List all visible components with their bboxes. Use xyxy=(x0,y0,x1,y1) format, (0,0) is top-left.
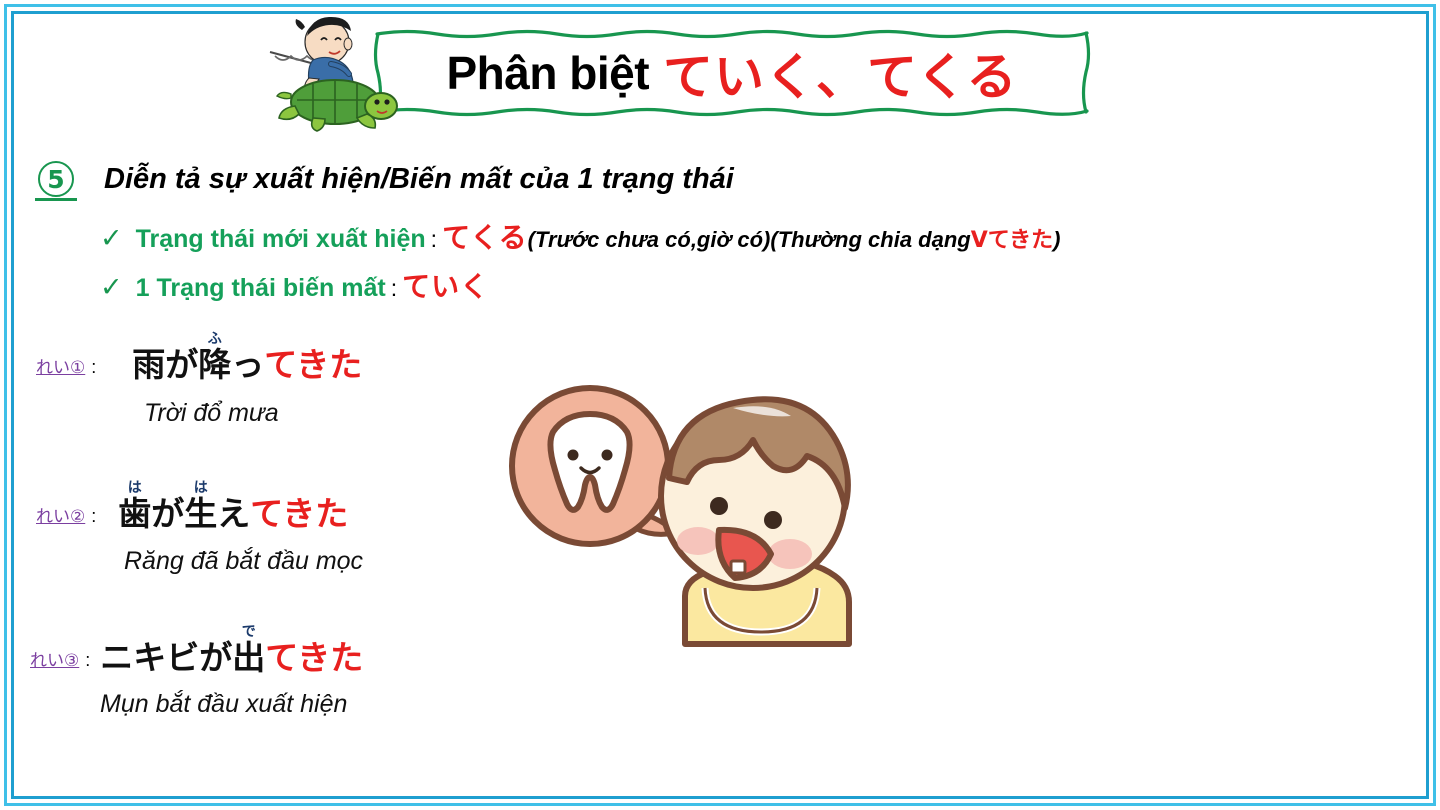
title-box: Phân biệt ていく、てくる xyxy=(373,28,1091,118)
slide-content: Phân biệt ていく、てくる 5 Diễn tả sự xuất hiện… xyxy=(0,0,1440,810)
example-label: れい③ xyxy=(30,646,79,676)
ruby-group: で 出 xyxy=(232,625,265,676)
ruby-group: 雨が xyxy=(132,346,198,383)
check-icon: ✓ xyxy=(100,272,123,303)
furigana: は xyxy=(128,481,142,495)
kana-base: っ xyxy=(231,348,264,383)
rule-row: ✓ 1 Trạng thái biến mất : ていく xyxy=(100,265,1060,305)
kanji-base: 歯 xyxy=(118,497,151,532)
example-block: れい② : は 歯 が は 生 え てきた Răng đã bắt đầu m xyxy=(36,481,363,576)
example-translation: Mụn bắt đầu xuất hiện xyxy=(100,690,363,719)
ruby-group: ふ 降 xyxy=(198,332,231,383)
ruby-group: は 歯 xyxy=(118,481,151,532)
section-number-badge: 5 xyxy=(30,155,82,203)
section-number: 5 xyxy=(38,161,74,197)
example-block: れい① : 雨が ふ 降 っ てきた Trời đổ mưa xyxy=(36,332,362,428)
furigana: で xyxy=(242,625,256,639)
example-highlight: てきた xyxy=(250,497,348,532)
example-colon: : xyxy=(91,357,96,383)
example-translation: Răng đã bắt đầu mọc xyxy=(124,547,363,576)
kana-base: ニキビが xyxy=(100,641,232,676)
urashima-taro-turtle-icon xyxy=(265,14,405,134)
rule-label: 1 Trạng thái biến mất xyxy=(136,274,386,303)
rule-japanese: てくる xyxy=(442,216,528,256)
example-colon: : xyxy=(91,506,96,532)
title-vietnamese: Phân biệt xyxy=(446,46,649,100)
ruby-group: は 生 xyxy=(184,481,217,532)
title-text: Phân biệt ていく、てくる xyxy=(373,28,1091,118)
rule-row: ✓ Trạng thái mới xuất hiện : てくる (Trước … xyxy=(100,216,1060,256)
rule-note-prefix: (Trước chưa có,giờ có)(Thường chia dạng xyxy=(528,227,971,253)
example-line: れい① : 雨が ふ 降 っ てきた xyxy=(36,332,362,383)
rule-note-japanese: Vてきた xyxy=(971,222,1053,254)
example-line: れい③ : ニキビが で 出 てきた xyxy=(30,625,363,676)
example-block: れい③ : ニキビが で 出 てきた Mụn bắt đầu xuất hiện xyxy=(30,625,363,719)
example-line: れい② : は 歯 が は 生 え てきた xyxy=(36,481,363,532)
example-translation: Trời đổ mưa xyxy=(144,399,362,428)
rule-label: Trạng thái mới xuất hiện xyxy=(136,225,426,254)
section-heading: 5 Diễn tả sự xuất hiện/Biến mất của 1 tr… xyxy=(30,155,734,203)
furigana: は xyxy=(194,481,208,495)
example-colon: : xyxy=(85,650,90,676)
rule-note-suffix: ) xyxy=(1053,227,1060,253)
baby-with-tooth-illustration xyxy=(505,378,875,663)
example-label: れい② xyxy=(36,502,85,532)
example-japanese: 雨が ふ 降 っ てきた xyxy=(132,332,362,383)
rule-japanese: ていく xyxy=(402,265,489,305)
title-area: Phân biệt ていく、てくる xyxy=(265,14,1105,134)
rule-colon: : xyxy=(391,275,397,302)
section-heading-text: Diễn tả sự xuất hiện/Biến mất của 1 trạn… xyxy=(104,163,734,196)
section-number-underline xyxy=(35,198,77,201)
kanji-base: 出 xyxy=(232,641,265,676)
kana-base: が xyxy=(151,497,184,532)
example-label: れい① xyxy=(36,353,85,383)
furigana: ふ xyxy=(208,332,222,346)
rule-colon: : xyxy=(431,226,437,253)
kana-base: え xyxy=(217,497,250,532)
rules-list: ✓ Trạng thái mới xuất hiện : てくる (Trước … xyxy=(100,216,1060,314)
example-japanese: は 歯 が は 生 え てきた xyxy=(118,481,348,532)
example-highlight: てきた xyxy=(265,641,363,676)
title-japanese: ていく、てくる xyxy=(663,37,1018,109)
example-japanese: ニキビが で 出 てきた xyxy=(100,625,363,676)
kanji-base: 降 xyxy=(198,348,231,383)
kanji-base: 雨が xyxy=(132,348,198,383)
example-highlight: てきた xyxy=(264,348,362,383)
kanji-base: 生 xyxy=(184,497,217,532)
check-icon: ✓ xyxy=(100,223,123,254)
